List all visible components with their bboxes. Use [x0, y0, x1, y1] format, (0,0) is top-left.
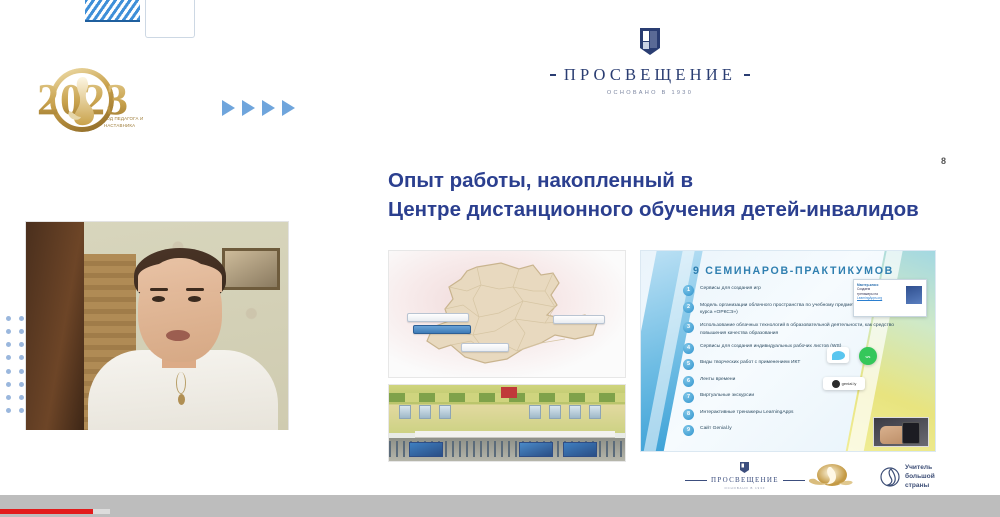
footer-brand-name: ПРОСВЕЩЕНИЕ	[711, 476, 779, 484]
genially-label: genial.ly	[842, 381, 857, 386]
footer-logo-prosveshchenie: ПРОСВЕЩЕНИЕ ОСНОВАНО В 1930	[685, 461, 805, 490]
brand-tagline: ОСНОВАНО В 1930	[550, 90, 750, 96]
dot-grid-left-decoration	[2, 312, 28, 417]
swan-outline-icon	[880, 465, 900, 489]
ws-chip	[827, 347, 849, 363]
slide-title: Опыт работы, накопленный в Центре дистан…	[388, 166, 948, 224]
list-item: 7 Виртуальные экскурсии	[683, 392, 897, 403]
list-bullet: 4	[683, 343, 694, 354]
photo-window	[589, 405, 601, 419]
infographic-heading: 9 СЕМИНАРОВ-ПРАКТИКУМОВ	[693, 265, 894, 277]
list-item-label: Виртуальные экскурсии	[700, 392, 754, 400]
list-item-label: Сайт Genial.ly	[700, 425, 732, 433]
emblem-caption: ГОД ПЕДАГОГА И НАСТАВНИКА	[104, 116, 156, 129]
list-item-label: Виды творческих работ с применением ИКТ	[700, 359, 800, 367]
video-wardrobe	[26, 222, 84, 430]
footer-brand-rule: ПРОСВЕЩЕНИЕ	[685, 476, 805, 484]
brand-rule: ПРОСВЕЩЕНИЕ	[550, 65, 750, 85]
genially-chip: genial.ly	[823, 377, 865, 390]
slide-footer-logos: ПРОСВЕЩЕНИЕ ОСНОВАНО В 1930	[300, 455, 1000, 495]
list-bullet: 7	[683, 392, 694, 403]
photo-window	[399, 405, 411, 419]
video-person-brow-right	[186, 288, 204, 291]
list-bullet: 8	[683, 409, 694, 420]
map-callout-4	[553, 315, 605, 324]
video-person-eye-left	[152, 296, 165, 302]
ws-badge: ws	[859, 347, 877, 365]
list-item-label: Сервисы для создания индивидуальных рабо…	[700, 343, 841, 351]
list-bullet: 3	[683, 322, 694, 333]
masterclass-card: Мастер-класс Создаем тренажеры на Learni…	[853, 279, 927, 317]
slide-title-line2: Центре дистанционного обучения детей-инв…	[388, 195, 948, 224]
photo-window	[419, 405, 431, 419]
left-filler	[0, 430, 300, 495]
footer-brand-tagline: ОСНОВАНО В 1930	[724, 486, 765, 490]
footer-logo-teacher: Учитель большой страны	[880, 464, 935, 490]
outlined-square-decoration	[145, 0, 195, 38]
list-item-label: Интерактивные тренажеры LearningApps	[700, 409, 794, 417]
footer-teacher-label: Учитель большой страны	[905, 464, 935, 490]
list-item: 3 Использование облачных технологий в об…	[683, 322, 897, 337]
photo-entrance-canopy	[415, 431, 615, 438]
swan-emblem-icon	[68, 74, 98, 128]
regional-map-image	[388, 250, 626, 378]
stripe-block-decoration	[85, 0, 140, 22]
video-person-eye-right	[188, 296, 201, 302]
video-player-stage: 2023 ГОД ПЕДАГОГА И НАСТАВНИКА	[0, 0, 1000, 517]
map-callout-1	[407, 313, 469, 322]
list-item-label: Использование облачных технологий в обра…	[700, 322, 897, 337]
book-mark-icon	[739, 461, 750, 474]
photo-window	[529, 405, 541, 419]
book-mark-icon	[637, 26, 663, 56]
list-item: 8 Интерактивные тренажеры LearningApps	[683, 409, 897, 420]
list-item: 9 Сайт Genial.ly	[683, 425, 897, 436]
list-bullet: 5	[683, 359, 694, 370]
brand-name: ПРОСВЕЩЕНИЕ	[564, 65, 736, 85]
video-person-mouth	[166, 330, 190, 341]
year-2023-emblem: 2023 ГОД ПЕДАГОГА И НАСТАВНИКА	[8, 66, 158, 144]
photo-flag	[501, 387, 517, 398]
video-person-brow-left	[150, 288, 168, 291]
infographic-photo	[873, 417, 929, 447]
photo-window	[549, 405, 561, 419]
list-bullet: 2	[683, 302, 694, 313]
video-picture-frame	[222, 248, 280, 290]
video-person-pendant	[178, 394, 185, 405]
slide-number: 8	[941, 156, 946, 166]
list-item-label: Ленты времени	[700, 376, 735, 384]
footer-logo-swan	[805, 463, 863, 489]
progress-played[interactable]	[0, 509, 93, 514]
slide-brand-logo: ПРОСВЕЩЕНИЕ ОСНОВАНО В 1930	[550, 26, 750, 96]
list-bullet: 9	[683, 425, 694, 436]
video-person-necklace	[176, 372, 186, 394]
card-thumbnail	[906, 286, 922, 304]
list-bullet: 6	[683, 376, 694, 387]
map-callout-2	[413, 325, 471, 334]
slide-title-line1: Опыт работы, накопленный в	[388, 166, 948, 195]
presentation-slide: ПРОСВЕЩЕНИЕ ОСНОВАНО В 1930 8 Опыт работ…	[300, 0, 1000, 495]
photo-window	[569, 405, 581, 419]
player-bottom-bar	[0, 495, 1000, 517]
list-bullet: 1	[683, 285, 694, 296]
photo-phone	[902, 422, 920, 444]
list-item-label: Сервисы для создания игр	[700, 285, 761, 293]
speaker-video-tile[interactable]	[26, 222, 288, 430]
swan-gold-icon	[805, 463, 863, 489]
seminars-infographic: 9 СЕМИНАРОВ-ПРАКТИКУМОВ 1 Сервисы для со…	[640, 250, 936, 452]
school-building-photo	[388, 384, 626, 462]
photo-window	[439, 405, 451, 419]
map-callout-3	[461, 343, 509, 352]
